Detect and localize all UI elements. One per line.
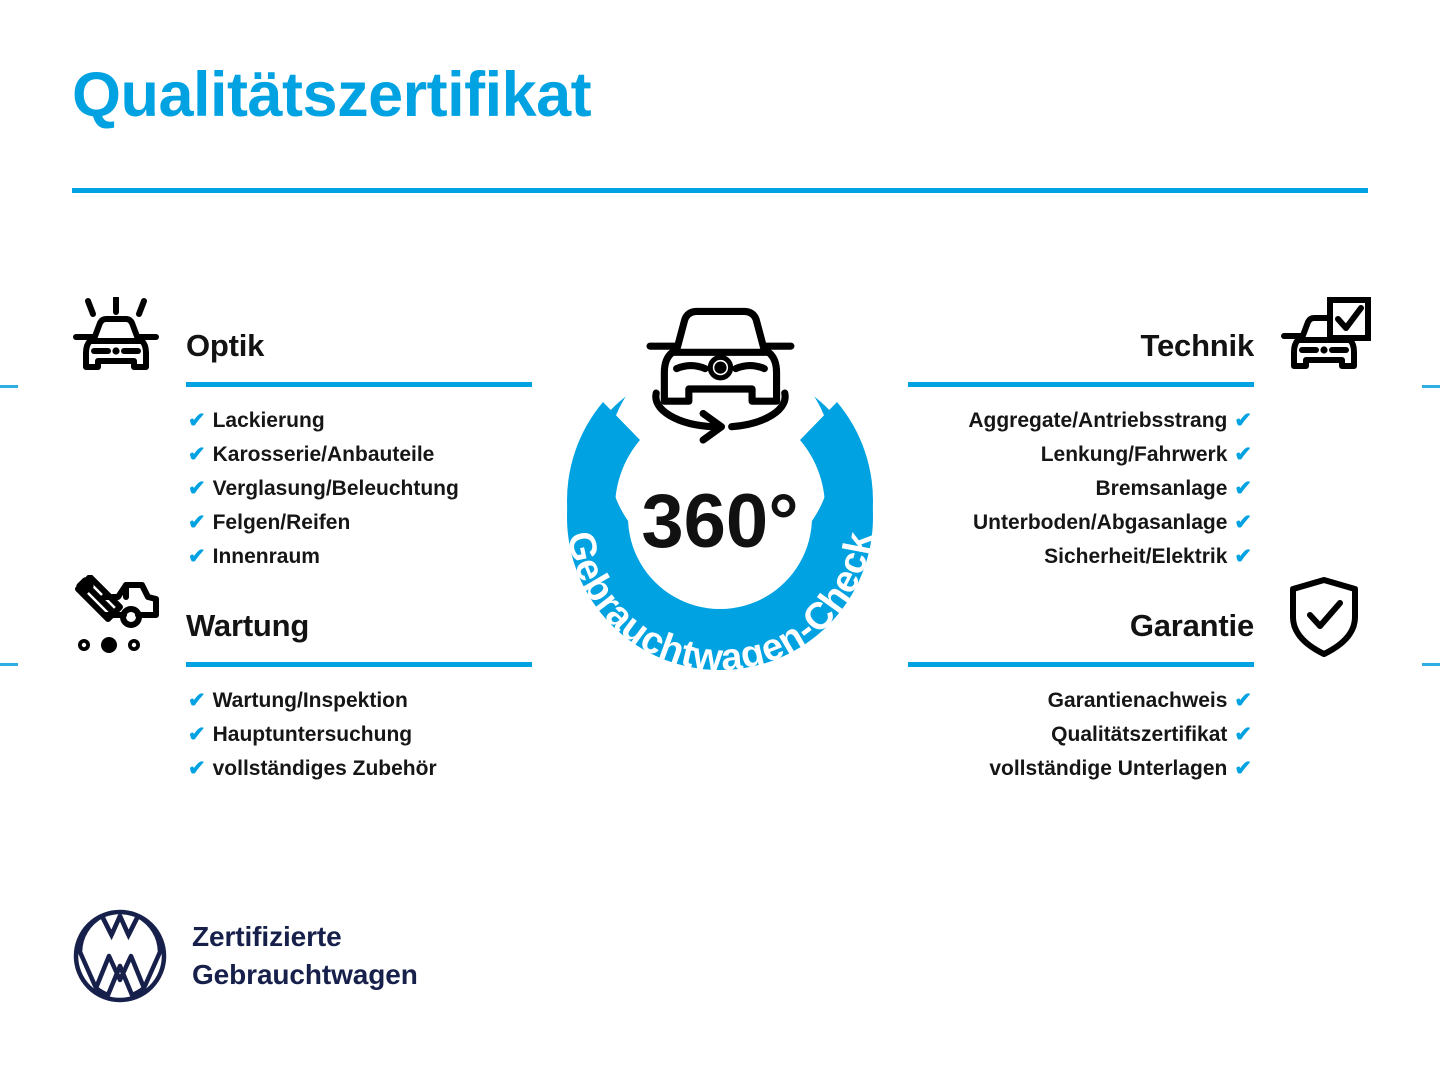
list-item-label: vollständiges Zubehör — [213, 752, 437, 786]
checklist-optik: ✔Lackierung ✔Karosserie/Anbauteile ✔Verg… — [62, 404, 532, 574]
section-divider-technik — [908, 382, 1254, 387]
check-icon: ✔ — [1234, 506, 1252, 540]
list-item: ✔Felgen/Reifen — [62, 506, 532, 540]
section-divider-garantie — [908, 662, 1254, 667]
list-item: Garantienachweis✔ — [908, 684, 1378, 718]
list-item-label: Sicherheit/Elektrik — [1044, 540, 1227, 574]
list-item: Unterboden/Abgasanlage✔ — [908, 506, 1378, 540]
check-icon: ✔ — [188, 506, 206, 540]
list-item-label: Bremsanlage — [1095, 472, 1227, 506]
list-item-label: Lackierung — [213, 404, 325, 438]
pencil-car-service-icon — [62, 576, 170, 658]
checklist-technik: Aggregate/Antriebsstrang✔ Lenkung/Fahrwe… — [908, 404, 1378, 574]
list-item: Qualitätszertifikat✔ — [908, 718, 1378, 752]
list-item: ✔Verglasung/Beleuchtung — [62, 472, 532, 506]
list-item-label: Lenkung/Fahrwerk — [1041, 438, 1228, 472]
list-item: Sicherheit/Elektrik✔ — [908, 540, 1378, 574]
list-item-label: Garantienachweis — [1048, 684, 1228, 718]
crop-mark-left-top — [0, 385, 18, 388]
brand-claim: Zertifizierte Gebrauchtwagen — [192, 918, 418, 994]
check-icon: ✔ — [1234, 718, 1252, 752]
list-item: ✔Karosserie/Anbauteile — [62, 438, 532, 472]
footer-brand: Zertifizierte Gebrauchtwagen — [72, 908, 418, 1004]
check-icon: ✔ — [188, 404, 206, 438]
crop-mark-right-top — [1422, 385, 1440, 388]
check-icon: ✔ — [188, 684, 206, 718]
list-item: ✔Innenraum — [62, 540, 532, 574]
check-icon: ✔ — [188, 472, 206, 506]
certificate-page: Qualitätszertifikat — [0, 0, 1440, 1080]
list-item-label: Unterboden/Abgasanlage — [973, 506, 1227, 540]
list-item: Lenkung/Fahrwerk✔ — [908, 438, 1378, 472]
check-icon: ✔ — [188, 540, 206, 574]
list-item: vollständige Unterlagen✔ — [908, 752, 1378, 786]
check-icon: ✔ — [1234, 752, 1252, 786]
badge-center-label: 360° — [641, 479, 798, 564]
check-icon: ✔ — [1234, 472, 1252, 506]
section-title-technik: Technik — [1141, 328, 1254, 364]
check-icon: ✔ — [1234, 540, 1252, 574]
check-icon: ✔ — [1234, 404, 1252, 438]
car-checkbox-icon — [1270, 296, 1378, 378]
page-title: Qualitätszertifikat — [72, 62, 591, 128]
section-header-technik: Technik — [908, 296, 1378, 378]
check-icon: ✔ — [1234, 438, 1252, 472]
list-item: ✔Hauptuntersuchung — [62, 718, 532, 752]
section-title-wartung: Wartung — [186, 608, 309, 644]
section-optik: Optik ✔Lackierung ✔Karosserie/Anbauteile… — [62, 296, 532, 378]
brand-claim-line2: Gebrauchtwagen — [192, 956, 418, 994]
section-divider-optik — [186, 382, 532, 387]
list-item-label: Aggregate/Antriebsstrang — [968, 404, 1227, 438]
list-item: ✔Lackierung — [62, 404, 532, 438]
section-title-optik: Optik — [186, 328, 264, 364]
header-divider — [72, 188, 1368, 193]
list-item-label: Felgen/Reifen — [213, 506, 351, 540]
section-technik: Technik Aggregate/Antriebsstrang✔ Lenkun… — [908, 296, 1378, 378]
vw-logo — [72, 908, 168, 1004]
section-garantie: Garantie Garantienachweis✔ Qualitätszert… — [908, 576, 1378, 658]
list-item-label: vollständige Unterlagen — [989, 752, 1227, 786]
brand-claim-line1: Zertifizierte — [192, 918, 418, 956]
list-item-label: Innenraum — [213, 540, 320, 574]
check-icon: ✔ — [188, 438, 206, 472]
section-divider-wartung — [186, 662, 532, 667]
car-front-lights-icon — [62, 296, 170, 378]
check-icon: ✔ — [188, 718, 206, 752]
list-item: ✔vollständiges Zubehör — [62, 752, 532, 786]
shield-check-icon — [1270, 576, 1378, 658]
crop-mark-left-bottom — [0, 663, 18, 666]
list-item-label: Verglasung/Beleuchtung — [213, 472, 459, 506]
crop-mark-right-bottom — [1422, 663, 1440, 666]
section-wartung: Wartung ✔Wartung/Inspektion ✔Hauptunters… — [62, 576, 532, 658]
list-item: ✔Wartung/Inspektion — [62, 684, 532, 718]
list-item-label: Qualitätszertifikat — [1051, 718, 1227, 752]
checklist-garantie: Garantienachweis✔ Qualitätszertifikat✔ v… — [908, 684, 1378, 786]
section-title-garantie: Garantie — [1130, 608, 1254, 644]
list-item: Aggregate/Antriebsstrang✔ — [908, 404, 1378, 438]
list-item-label: Wartung/Inspektion — [213, 684, 408, 718]
section-header-optik: Optik — [62, 296, 532, 378]
badge-360-gebrauchtwagen-check: Gebrauchtwagen-Check 360° — [515, 282, 925, 702]
checklist-wartung: ✔Wartung/Inspektion ✔Hauptuntersuchung ✔… — [62, 684, 532, 786]
list-item-label: Karosserie/Anbauteile — [213, 438, 435, 472]
list-item-label: Hauptuntersuchung — [213, 718, 413, 752]
list-item: Bremsanlage✔ — [908, 472, 1378, 506]
check-icon: ✔ — [1234, 684, 1252, 718]
section-header-wartung: Wartung — [62, 576, 532, 658]
section-header-garantie: Garantie — [908, 576, 1378, 658]
check-icon: ✔ — [188, 752, 206, 786]
